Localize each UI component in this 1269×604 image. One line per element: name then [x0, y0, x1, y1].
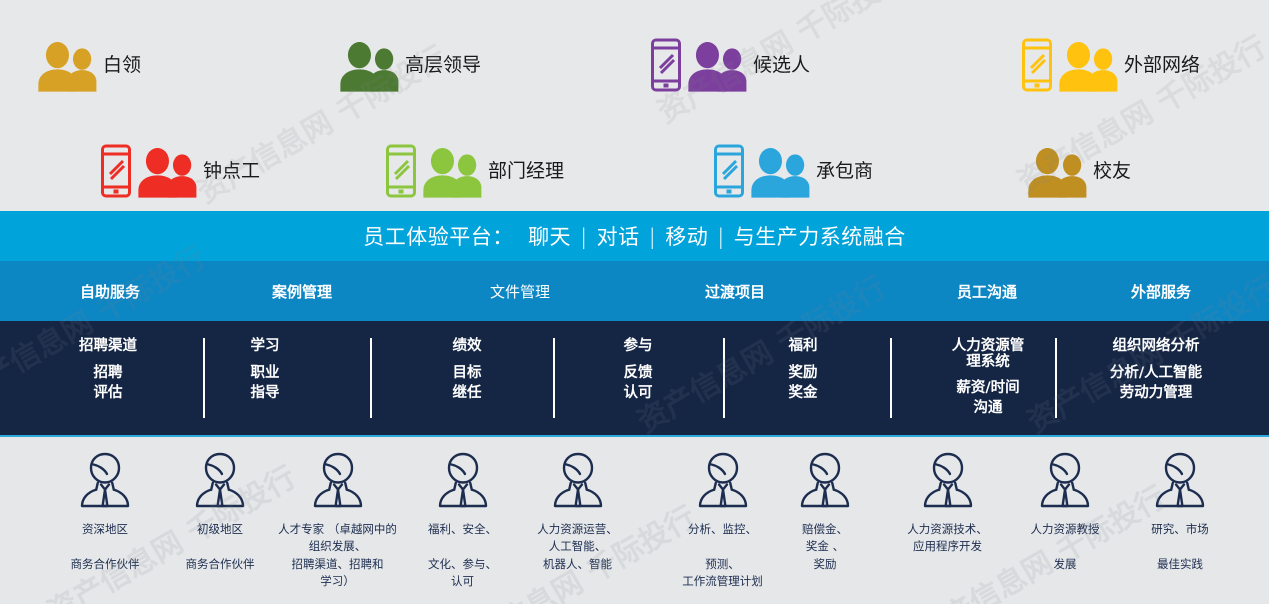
persona-label: 部门经理 [488, 162, 564, 181]
banner-separator: | [708, 225, 734, 249]
persona-icon-group [713, 136, 811, 198]
column-sub-item: 指导 [251, 383, 280, 403]
mobile-phone-icon [1021, 38, 1053, 92]
column-sub-items: 招聘评估 [94, 363, 123, 403]
column-sub-item: 继任 [453, 383, 482, 403]
role-avatar [435, 451, 491, 514]
persona-icon-group [650, 30, 748, 92]
column-sub-items: 奖励奖金 [789, 363, 818, 403]
column-head: 福利 [789, 339, 818, 355]
persona-label: 承包商 [816, 162, 873, 181]
person-avatar-icon [920, 451, 976, 509]
person-avatar-icon [310, 451, 366, 509]
persona-icon-group [338, 30, 400, 92]
column-sub-items: 薪资/时间沟通 [956, 378, 1019, 418]
column-head: 人力资源管理系统 [952, 339, 1025, 370]
person-avatar-icon [695, 451, 751, 509]
persona-icon-group [1021, 30, 1119, 92]
column-sub-item: 反馈 [624, 363, 653, 383]
personas-band: 白领高层领导候选人外部网络钟点工部门经理承包商校友 [0, 0, 1269, 211]
category-5[interactable]: 员工沟通 [897, 261, 1077, 321]
roles-band: 资深地区 商务合作伙伴初级地区 商务合作伙伴人才专家 （卓越网中的 组织发展、 … [0, 435, 1269, 604]
category-1[interactable]: 自助服务 [20, 261, 200, 321]
role-3: 人才专家 （卓越网中的 组织发展、 招聘渠道、招聘和 学习） [260, 435, 415, 590]
person-avatar-icon [192, 451, 248, 509]
column-divider-1 [203, 338, 205, 418]
capability-column-3: 绩效目标继任 [392, 321, 542, 435]
banner-item-3: 移动 [665, 225, 708, 249]
role-avatar [192, 451, 248, 514]
column-head: 学习 [251, 339, 280, 355]
persona-label: 候选人 [753, 56, 810, 75]
person-avatar-icon [550, 451, 606, 509]
role-10: 研究、市场 最佳实践 [1115, 435, 1245, 573]
mobile-phone-icon [100, 144, 132, 198]
role-avatar [1037, 451, 1093, 514]
column-sub-item: 分析/人工智能 [1110, 363, 1202, 383]
category-3[interactable]: 文件管理 [430, 261, 610, 321]
role-avatar [77, 451, 133, 514]
role-avatar [550, 451, 606, 514]
persona-2: 高层领导 [338, 26, 481, 96]
persona-label: 外部网络 [1124, 56, 1200, 75]
people-icon [36, 42, 98, 92]
people-icon [749, 148, 811, 198]
column-head: 参与 [624, 339, 653, 355]
column-head: 组织网络分析 [1113, 339, 1200, 355]
column-sub-item: 奖金 [789, 383, 818, 403]
role-label: 福利、安全、 文化、参与、 认可 [428, 521, 497, 590]
capability-column-5: 福利奖励奖金 [728, 321, 878, 435]
column-sub-items: 职业指导 [251, 363, 280, 403]
persona-7: 承包商 [713, 132, 873, 202]
mobile-phone-icon [713, 144, 745, 198]
people-icon [1026, 148, 1088, 198]
persona-8: 校友 [1026, 132, 1131, 202]
person-avatar-icon [77, 451, 133, 509]
column-sub-item: 劳动力管理 [1110, 383, 1202, 403]
role-label: 人力资源运营、 人工智能、 机器人、智能 [537, 521, 618, 573]
banner-item-1: 聊天 [528, 225, 571, 249]
column-head: 招聘渠道 [79, 339, 137, 355]
capability-column-7: 组织网络分析分析/人工智能劳动力管理 [1070, 321, 1242, 435]
column-sub-item: 沟通 [956, 398, 1019, 418]
column-divider-2 [370, 338, 372, 418]
capability-columns: 招聘渠道招聘评估学习职业指导绩效目标继任参与反馈认可福利奖励奖金人力资源管理系统… [0, 321, 1269, 435]
column-sub-item: 认可 [624, 383, 653, 403]
role-label: 赔偿金、 奖金 、 奖励 [802, 521, 848, 573]
role-label: 人才专家 （卓越网中的 组织发展、 招聘渠道、招聘和 学习） [278, 521, 397, 590]
column-sub-items: 反馈认可 [624, 363, 653, 403]
role-8: 人力资源技术、 应用程序开发 [875, 435, 1020, 556]
people-icon [421, 148, 483, 198]
role-label: 资深地区 商务合作伙伴 [71, 521, 140, 573]
role-label: 人力资源技术、 应用程序开发 [907, 521, 988, 556]
persona-4: 外部网络 [1021, 26, 1200, 96]
persona-icon-group [1026, 136, 1088, 198]
mobile-phone-icon [650, 38, 682, 92]
person-avatar-icon [1037, 451, 1093, 509]
category-2[interactable]: 案例管理 [212, 261, 392, 321]
column-divider-5 [890, 338, 892, 418]
role-5: 人力资源运营、 人工智能、 机器人、智能 [505, 435, 650, 573]
persona-icon-group [100, 136, 198, 198]
platform-banner-text: 员工体验平台： 聊天|对话|移动|与生产力系统融合 [363, 221, 906, 251]
column-divider-6 [1055, 338, 1057, 418]
column-head: 绩效 [453, 339, 482, 355]
infographic-page: 白领高层领导候选人外部网络钟点工部门经理承包商校友 员工体验平台： 聊天|对话|… [0, 0, 1269, 604]
person-avatar-icon [435, 451, 491, 509]
people-icon [686, 42, 748, 92]
column-sub-item: 评估 [94, 383, 123, 403]
mobile-phone-icon [385, 144, 417, 198]
persona-label: 白领 [103, 56, 141, 75]
banner-prefix: 员工体验平台： [363, 225, 514, 249]
role-1: 资深地区 商务合作伙伴 [40, 435, 170, 573]
banner-item-2: 对话 [597, 225, 640, 249]
role-avatar [797, 451, 853, 514]
role-avatar [695, 451, 751, 514]
role-avatar [1152, 451, 1208, 514]
capability-column-6: 人力资源管理系统薪资/时间沟通 [902, 321, 1074, 435]
persona-5: 钟点工 [100, 132, 260, 202]
column-sub-items: 分析/人工智能劳动力管理 [1110, 363, 1202, 403]
role-avatar [920, 451, 976, 514]
banner-suffix: 与生产力系统融合 [734, 225, 906, 249]
people-icon [1057, 42, 1119, 92]
person-avatar-icon [797, 451, 853, 509]
people-icon [136, 148, 198, 198]
persona-3: 候选人 [650, 26, 810, 96]
capability-column-1: 招聘渠道招聘评估 [33, 321, 183, 435]
role-label: 研究、市场 最佳实践 [1151, 521, 1209, 573]
role-label: 分析、监控、 预测、 工作流管理计划 [682, 521, 763, 590]
column-sub-item: 奖励 [789, 363, 818, 383]
category-row: 自助服务案例管理文件管理过渡项目员工沟通外部服务 [0, 261, 1269, 321]
category-6[interactable]: 外部服务 [1071, 261, 1251, 321]
role-label: 初级地区 商务合作伙伴 [186, 521, 255, 573]
banner-separator: | [640, 225, 666, 249]
column-sub-item: 目标 [453, 363, 482, 383]
role-7: 赔偿金、 奖金 、 奖励 [765, 435, 885, 573]
role-label: 人力资源教授 发展 [1031, 521, 1100, 573]
column-sub-item: 招聘 [94, 363, 123, 383]
persona-icon-group [385, 136, 483, 198]
column-divider-4 [723, 338, 725, 418]
persona-label: 校友 [1093, 162, 1131, 181]
capability-column-2: 学习职业指导 [190, 321, 340, 435]
person-avatar-icon [1152, 451, 1208, 509]
column-sub-item: 薪资/时间 [956, 378, 1019, 398]
capability-column-4: 参与反馈认可 [563, 321, 713, 435]
platform-banner: 员工体验平台： 聊天|对话|移动|与生产力系统融合 [0, 211, 1269, 261]
persona-1: 白领 [36, 26, 141, 96]
column-sub-items: 目标继任 [453, 363, 482, 403]
persona-label: 钟点工 [203, 162, 260, 181]
persona-label: 高层领导 [405, 56, 481, 75]
role-avatar [310, 451, 366, 514]
people-icon [338, 42, 400, 92]
banner-separator: | [571, 225, 597, 249]
persona-6: 部门经理 [385, 132, 564, 202]
column-sub-item: 职业 [251, 363, 280, 383]
column-divider-3 [553, 338, 555, 418]
persona-icon-group [36, 30, 98, 92]
category-4[interactable]: 过渡项目 [645, 261, 825, 321]
role-9: 人力资源教授 发展 [1000, 435, 1130, 573]
